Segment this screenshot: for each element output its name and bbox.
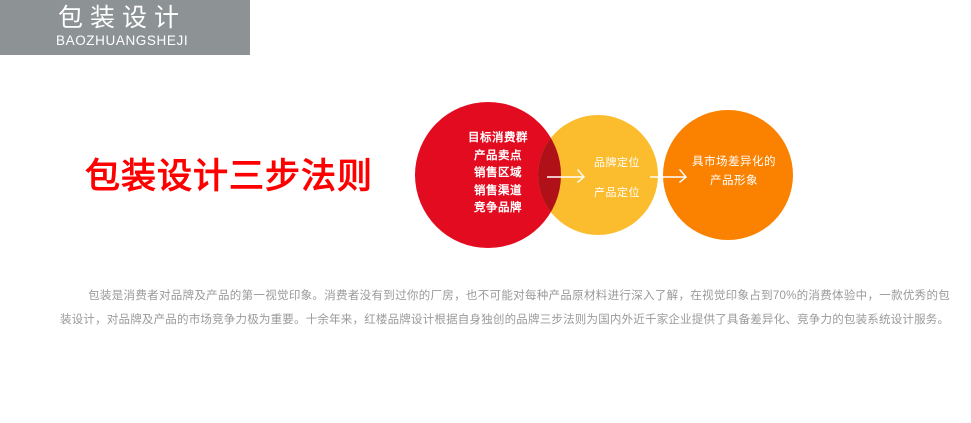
page-title: 包装设计三步法则 bbox=[85, 155, 373, 199]
header-title-en: BAOZHUANGSHEJI bbox=[56, 33, 188, 49]
header-bar: 包装设计 BAOZHUANGSHEJI bbox=[0, 0, 250, 55]
three-step-venn-diagram: 目标消费群 产品卖点 销售区域 销售渠道 竞争品牌 品牌定位 产品定位 具市场差… bbox=[410, 98, 800, 256]
circle-step-3 bbox=[663, 110, 793, 240]
body-paragraph: 包装是消费者对品牌及产品的第一视觉印象。消费者没有到过你的厂房，也不可能对每种产… bbox=[60, 285, 950, 332]
venn-svg bbox=[410, 98, 800, 256]
paragraph-text: 包装是消费者对品牌及产品的第一视觉印象。消费者没有到过你的厂房，也不可能对每种产… bbox=[60, 290, 950, 326]
header-title-cn: 包装设计 bbox=[58, 3, 186, 33]
